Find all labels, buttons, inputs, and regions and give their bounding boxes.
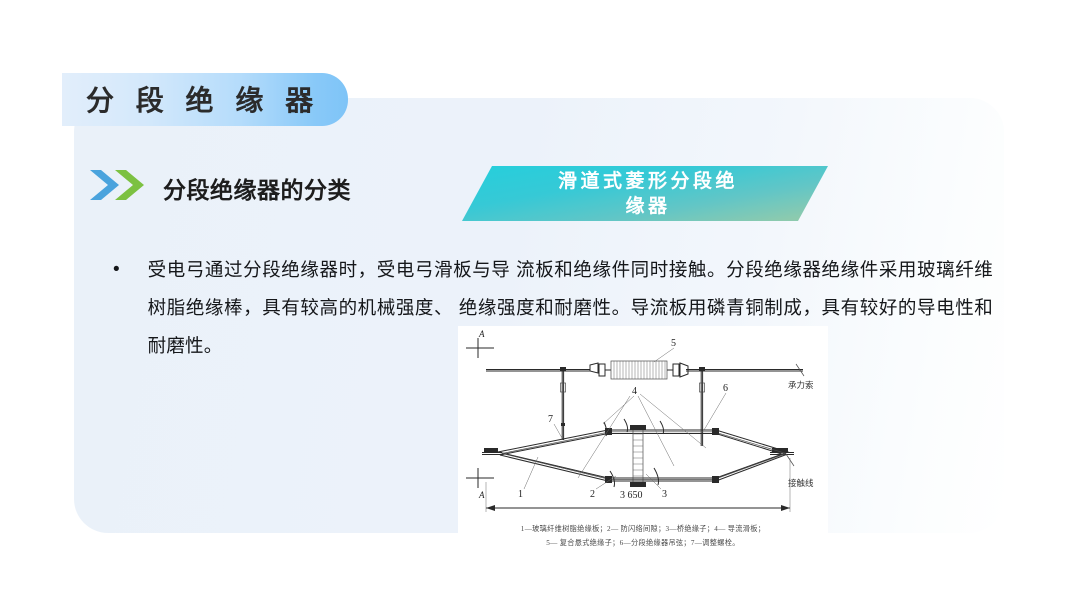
side-label-catenary: 承力索 xyxy=(788,380,814,390)
page-title: 分 段 绝 缘 器 xyxy=(86,79,320,119)
slide-title-banner: 分 段 绝 缘 器 xyxy=(62,73,348,126)
side-label-contact-wire: 接触线 xyxy=(788,478,814,488)
svg-text:A: A xyxy=(478,329,485,339)
svg-text:承力索: 承力索 xyxy=(788,380,814,390)
slide-canvas: 分 段 绝 缘 器 分段绝缘器的分类 滑道式菱形分段绝 缘器 xyxy=(0,0,1080,608)
contact-wire xyxy=(482,448,794,466)
figure-caption-line-2: 5— 复合悬式绝缘子；6—分段绝缘器吊弦；7—调整螺栓。 xyxy=(546,538,739,547)
section-subtitle-label: 分段绝缘器的分类 xyxy=(163,171,351,205)
section-mark-bottom: A xyxy=(466,468,494,500)
svg-text:6: 6 xyxy=(723,383,728,394)
technical-diagram-figure: A A xyxy=(458,326,828,562)
double-chevron-icon xyxy=(88,168,150,207)
svg-text:4: 4 xyxy=(632,386,637,397)
svg-text:1: 1 xyxy=(518,489,523,500)
bullet-marker: • xyxy=(113,251,120,365)
svg-text:5: 5 xyxy=(671,338,676,349)
teal-category-banner: 滑道式菱形分段绝 缘器 xyxy=(462,166,828,221)
dropper-right xyxy=(699,367,705,446)
dropper-left xyxy=(560,367,566,440)
svg-text:A: A xyxy=(478,490,485,500)
svg-text:7: 7 xyxy=(548,414,553,425)
catenary-wire xyxy=(486,364,804,376)
teal-banner-label: 滑道式菱形分段绝 缘器 xyxy=(514,169,782,219)
composite-suspension-insulator xyxy=(590,361,688,379)
section-subtitle-row: 分段绝缘器的分类 xyxy=(88,168,351,207)
svg-text:3: 3 xyxy=(662,489,667,500)
section-mark-top: A xyxy=(466,329,494,358)
dimension-label: 3 650 xyxy=(620,490,643,501)
svg-text:接触线: 接触线 xyxy=(788,478,814,488)
figure-caption-line-1: 1—玻璃纤维树脂绝缘板；2— 防闪络间隙；3—桥绝缘子；4— 导流滑板； xyxy=(521,524,765,533)
svg-text:2: 2 xyxy=(590,489,595,500)
